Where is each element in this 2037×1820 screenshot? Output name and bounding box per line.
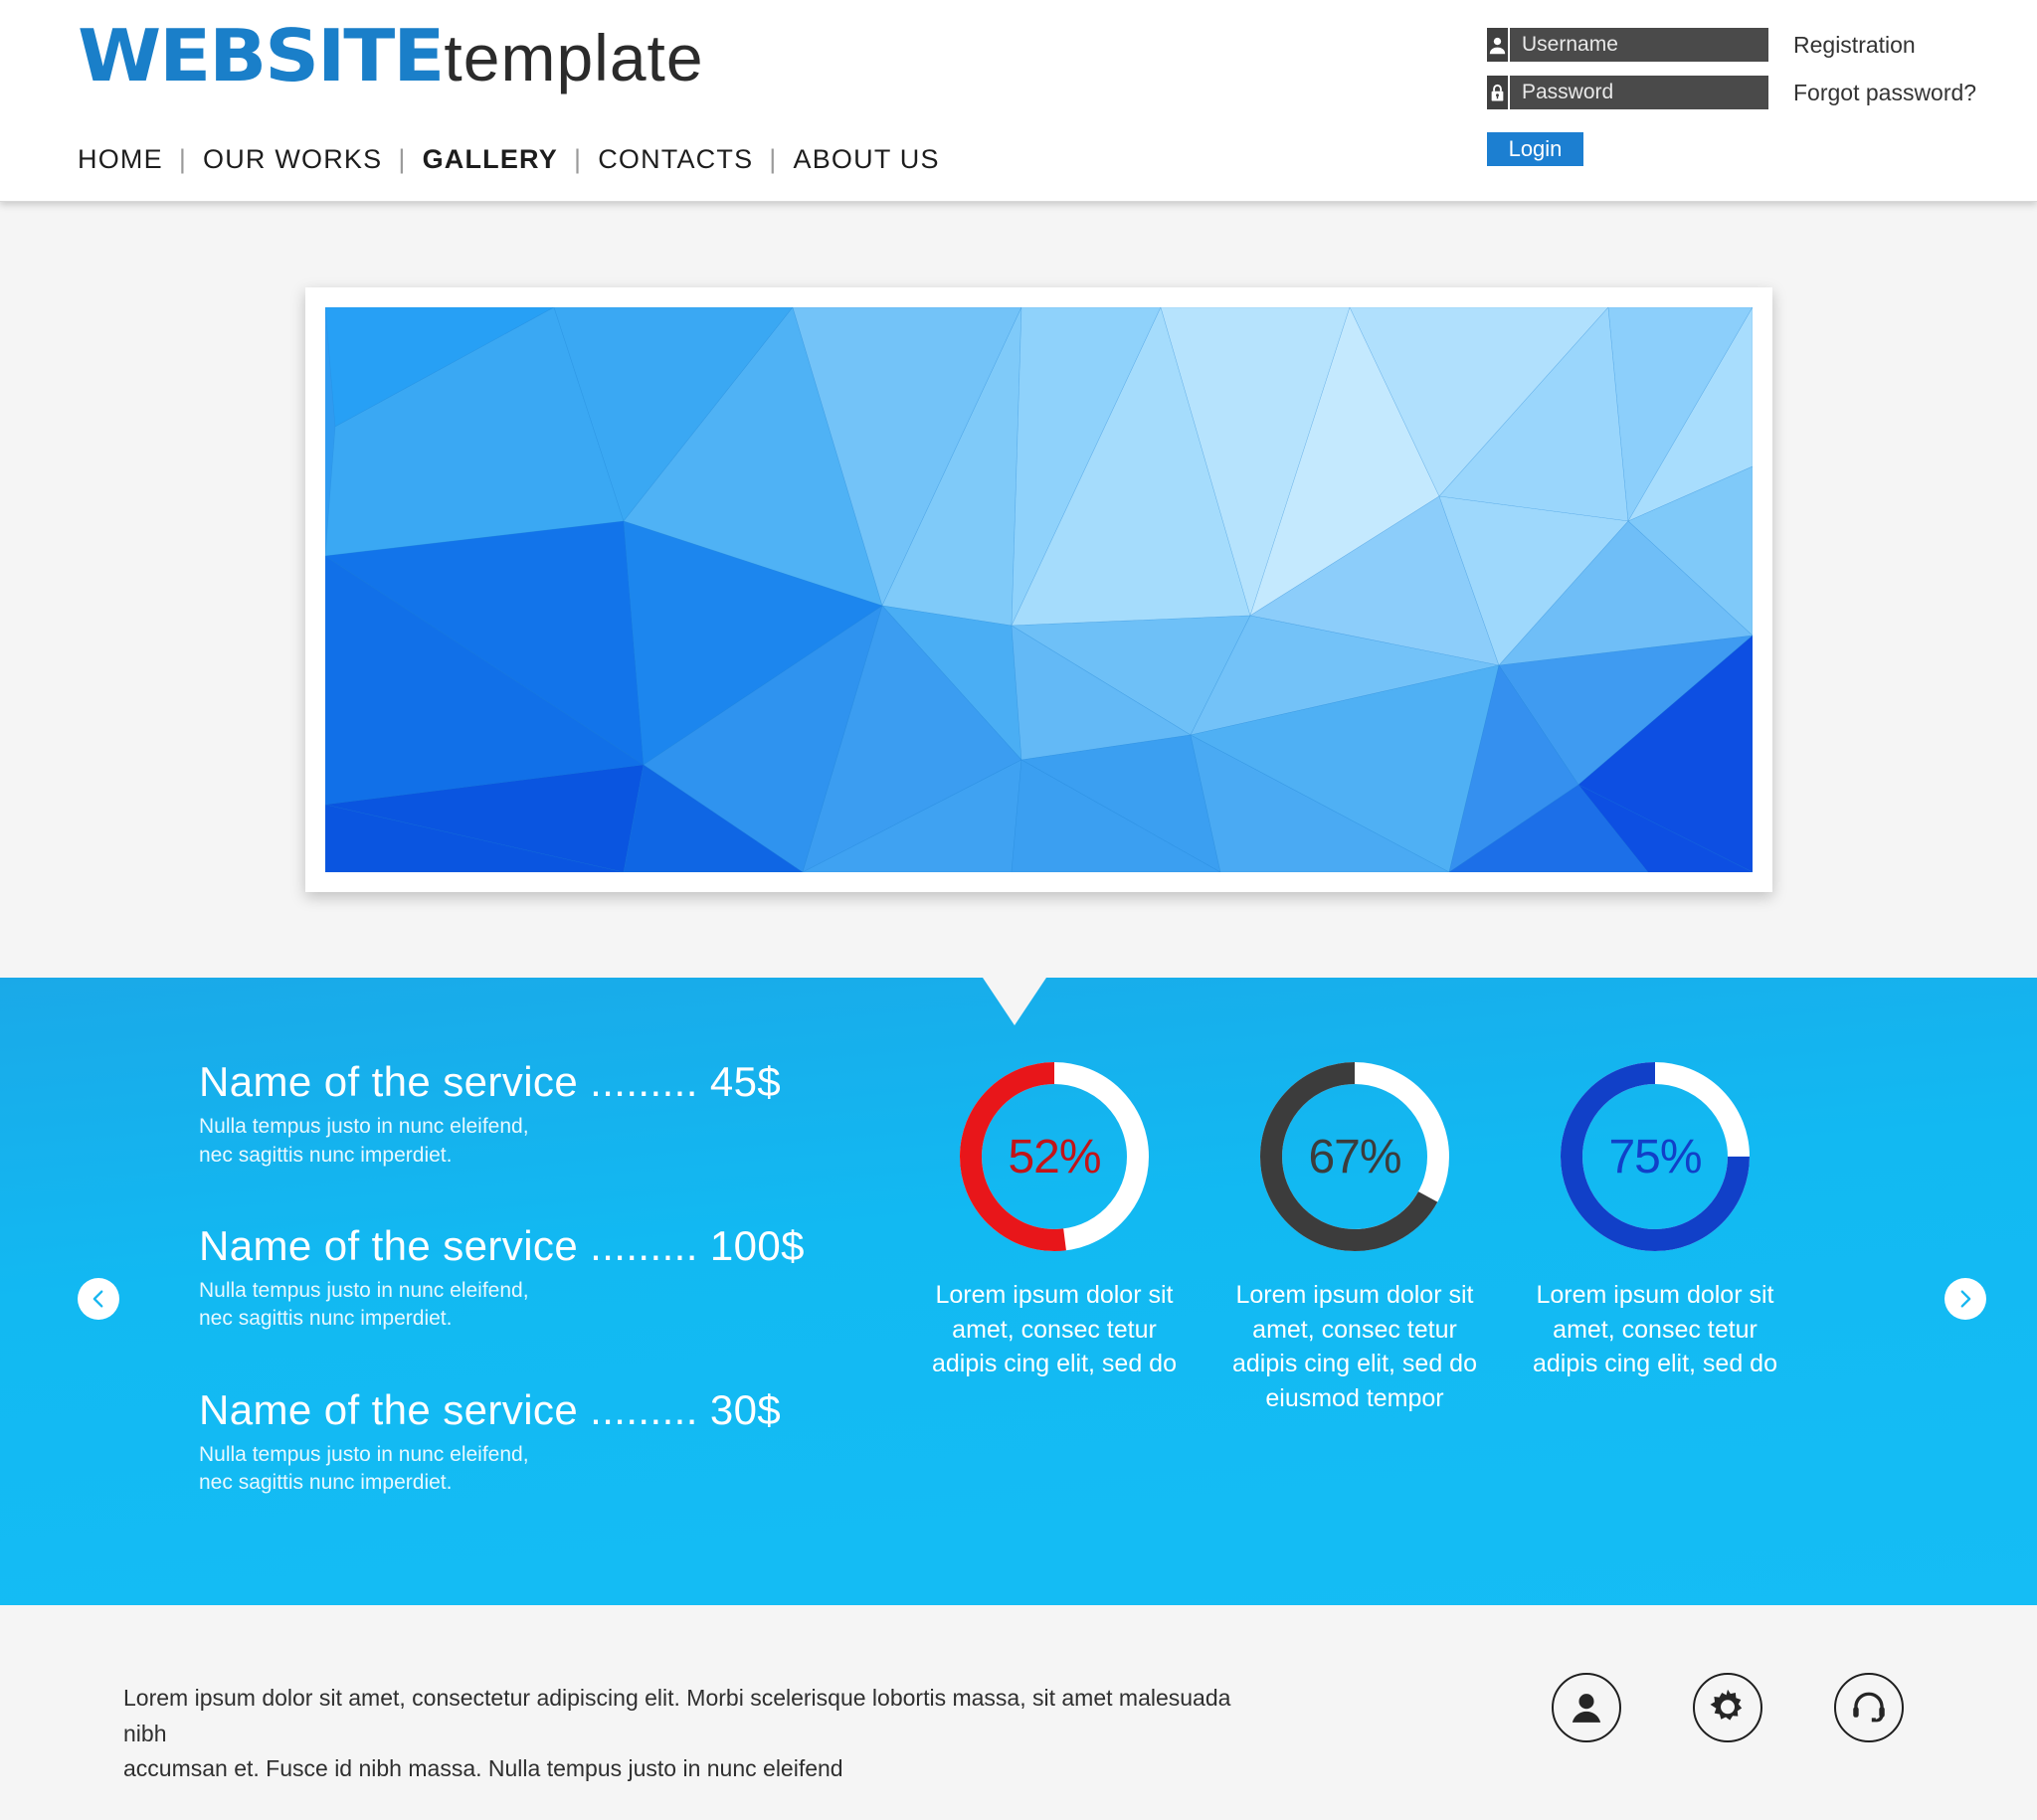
donut-card-75: 75% Lorem ipsum dolor sit amet, consec t… bbox=[1526, 1057, 1784, 1415]
donut-caption: Lorem ipsum dolor sit amet, consec tetur… bbox=[1225, 1278, 1484, 1415]
user-icon bbox=[1487, 28, 1510, 62]
donut-caption: Lorem ipsum dolor sit amet, consec tetur… bbox=[1526, 1278, 1784, 1381]
caption-line: adipis cing elit, sed do bbox=[932, 1350, 1177, 1377]
donut-value-label: 52% bbox=[955, 1057, 1154, 1256]
username-row: Registration bbox=[1487, 28, 1976, 62]
service-description: Nulla tempus justo in nunc eleifend, nec… bbox=[199, 1113, 895, 1170]
hero-image-frame bbox=[305, 287, 1772, 892]
footer-account-button[interactable] bbox=[1552, 1673, 1621, 1742]
hero-section bbox=[0, 202, 2037, 978]
login-form: Registration Forgot password? Login bbox=[1487, 28, 1976, 166]
service-description-line: nec sagittis nunc imperdiet. bbox=[199, 1144, 452, 1167]
logo-main-text: WEBSITE bbox=[78, 20, 443, 91]
caption-line: eiusmod tempor bbox=[1265, 1384, 1443, 1412]
donut-chart: 67% bbox=[1255, 1057, 1454, 1256]
service-description-line: nec sagittis nunc imperdiet. bbox=[199, 1307, 452, 1330]
donut-chart: 75% bbox=[1556, 1057, 1755, 1256]
user-icon bbox=[1566, 1687, 1607, 1729]
nav-separator: | bbox=[179, 144, 187, 175]
donut-value-label: 75% bbox=[1556, 1057, 1755, 1256]
donut-charts: 52% Lorem ipsum dolor sit amet, consec t… bbox=[925, 1057, 1784, 1415]
password-row: Forgot password? bbox=[1487, 76, 1976, 109]
password-field[interactable] bbox=[1487, 76, 1768, 109]
donut-chart: 52% bbox=[955, 1057, 1154, 1256]
footer-settings-button[interactable] bbox=[1693, 1673, 1762, 1742]
nav-item-contacts[interactable]: CONTACTS bbox=[598, 144, 753, 175]
footer-text: Lorem ipsum dolor sit amet, consectetur … bbox=[123, 1681, 1247, 1787]
nav-separator: | bbox=[574, 144, 582, 175]
service-item[interactable]: Name of the service ......... 30$ Nulla … bbox=[199, 1387, 895, 1498]
login-button[interactable]: Login bbox=[1487, 132, 1583, 166]
service-item[interactable]: Name of the service ......... 100$ Nulla… bbox=[199, 1223, 895, 1334]
footer-support-button[interactable] bbox=[1834, 1673, 1904, 1742]
caption-line: amet, consec tetur bbox=[952, 1316, 1157, 1344]
services-section: Name of the service ......... 45$ Nulla … bbox=[0, 978, 2037, 1605]
username-field[interactable] bbox=[1487, 28, 1768, 62]
nav-separator: | bbox=[398, 144, 406, 175]
hero-polygon-image bbox=[325, 307, 1753, 872]
footer-text-line: accumsan et. Fusce id nibh massa. Nulla … bbox=[123, 1755, 843, 1781]
caption-line: Lorem ipsum dolor sit bbox=[936, 1281, 1174, 1309]
donut-card-67: 67% Lorem ipsum dolor sit amet, consec t… bbox=[1225, 1057, 1484, 1415]
service-description-line: nec sagittis nunc imperdiet. bbox=[199, 1471, 452, 1494]
lock-icon bbox=[1487, 76, 1510, 109]
nav-item-home[interactable]: HOME bbox=[78, 144, 163, 175]
nav-item-our-works[interactable]: OUR WORKS bbox=[203, 144, 382, 175]
service-description-line: Nulla tempus justo in nunc eleifend, bbox=[199, 1115, 529, 1138]
site-header: WEBSITE template HOME | OUR WORKS | GALL… bbox=[0, 0, 2037, 202]
caption-line: Lorem ipsum dolor sit bbox=[1236, 1281, 1474, 1309]
nav-item-about-us[interactable]: ABOUT US bbox=[794, 144, 940, 175]
site-footer: Lorem ipsum dolor sit amet, consectetur … bbox=[0, 1605, 2037, 1820]
footer-text-line: Lorem ipsum dolor sit amet, consectetur … bbox=[123, 1685, 1230, 1746]
chevron-right-icon bbox=[1954, 1288, 1976, 1310]
caption-line: amet, consec tetur bbox=[1252, 1316, 1457, 1344]
gear-icon bbox=[1707, 1687, 1749, 1729]
password-input[interactable] bbox=[1510, 76, 1791, 109]
caption-line: adipis cing elit, sed do bbox=[1533, 1350, 1777, 1377]
caption-line: amet, consec tetur bbox=[1553, 1316, 1758, 1344]
footer-icon-row bbox=[1552, 1673, 1904, 1742]
forgot-password-link[interactable]: Forgot password? bbox=[1793, 76, 1976, 109]
caption-line: adipis cing elit, sed do bbox=[1232, 1350, 1477, 1377]
logo[interactable]: WEBSITE template bbox=[78, 20, 704, 91]
carousel-prev-button[interactable] bbox=[78, 1278, 119, 1320]
logo-sub-text: template bbox=[444, 25, 703, 91]
headset-icon bbox=[1848, 1687, 1890, 1729]
service-title: Name of the service ......... 100$ bbox=[199, 1223, 895, 1269]
service-description: Nulla tempus justo in nunc eleifend, nec… bbox=[199, 1277, 895, 1334]
service-description-line: Nulla tempus justo in nunc eleifend, bbox=[199, 1443, 529, 1466]
services-list: Name of the service ......... 45$ Nulla … bbox=[199, 1059, 895, 1551]
registration-link[interactable]: Registration bbox=[1793, 28, 1916, 62]
donut-value-label: 67% bbox=[1255, 1057, 1454, 1256]
chevron-left-icon bbox=[88, 1288, 109, 1310]
donut-caption: Lorem ipsum dolor sit amet, consec tetur… bbox=[925, 1278, 1184, 1381]
nav-item-gallery[interactable]: GALLERY bbox=[423, 144, 558, 175]
nav-separator: | bbox=[769, 144, 777, 175]
service-title: Name of the service ......... 30$ bbox=[199, 1387, 895, 1433]
caption-line: Lorem ipsum dolor sit bbox=[1537, 1281, 1774, 1309]
donut-card-52: 52% Lorem ipsum dolor sit amet, consec t… bbox=[925, 1057, 1184, 1415]
main-navigation: HOME | OUR WORKS | GALLERY | CONTACTS | … bbox=[78, 144, 940, 175]
section-notch bbox=[983, 978, 1046, 1025]
username-input[interactable] bbox=[1510, 28, 1791, 62]
carousel-next-button[interactable] bbox=[1944, 1278, 1986, 1320]
service-description-line: Nulla tempus justo in nunc eleifend, bbox=[199, 1279, 529, 1302]
service-item[interactable]: Name of the service ......... 45$ Nulla … bbox=[199, 1059, 895, 1170]
service-description: Nulla tempus justo in nunc eleifend, nec… bbox=[199, 1441, 895, 1498]
service-title: Name of the service ......... 45$ bbox=[199, 1059, 895, 1105]
